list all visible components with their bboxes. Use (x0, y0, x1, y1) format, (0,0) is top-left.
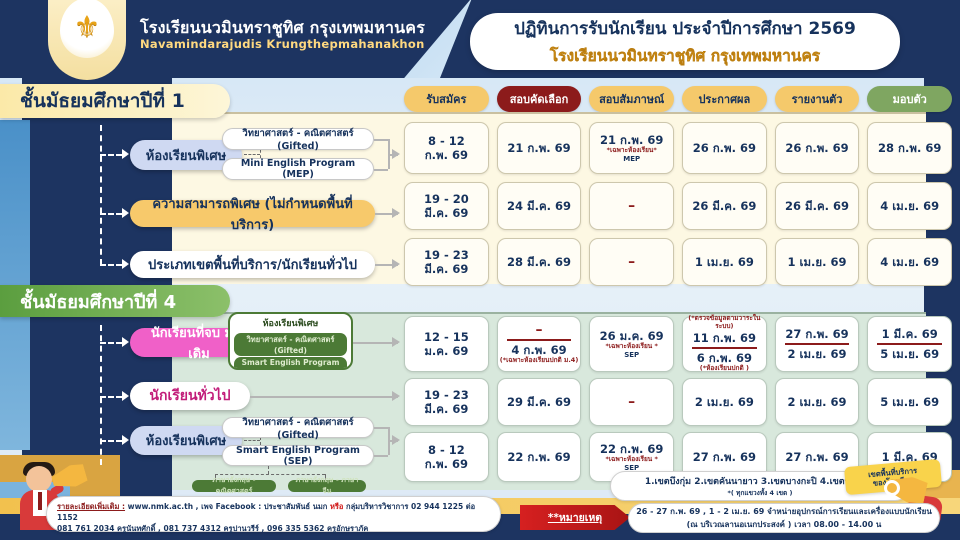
merge-m4-top (374, 427, 388, 429)
cell-date: 21 ก.พ. 69 (600, 133, 663, 147)
column-header-results[interactable]: ประกาศผล (682, 86, 767, 112)
infographic-root: ⚜ โรงเรียนนวมินทราชูทิศ กรุงเทพมหานคร Na… (0, 0, 960, 540)
cell-m1-special-exam[interactable]: 21 ก.พ. 69 (497, 122, 582, 174)
cell-m1-talent-results[interactable]: 26 มี.ค. 69 (682, 182, 767, 230)
contact-label: รายละเอียดเพิ่มเติม : (57, 502, 125, 511)
cell-date: 21 ก.พ. 69 (507, 141, 570, 155)
link-m4-general-arrow (392, 391, 400, 401)
cell-date-top: 1 มี.ค. 69 (882, 327, 938, 341)
cell-m1-special-interview[interactable]: 21 ก.พ. 69 *เฉพาะห้องเรียน* MEP (589, 122, 674, 174)
tree-spine-m1 (100, 125, 102, 265)
cell-m4-former-enroll[interactable]: 1 มี.ค. 69 5 เม.ย. 69 (867, 316, 952, 372)
section-band-m4: ชั้นมัธยมศึกษาปีที่ 4 (0, 285, 230, 317)
cell-date: 27 ก.พ. 69 (785, 450, 848, 464)
cell-m4-special-exam[interactable]: 22 ก.พ. 69 (497, 432, 582, 482)
cell-date: 28 มี.ค. 69 (507, 255, 571, 269)
cell-date: 2 เม.ย. 69 (695, 395, 754, 409)
note-flag-label: **หมายเหตุ (548, 509, 602, 526)
note-box: 26 - 27 ก.พ. 69 , 1 - 2 เม.ย. 69 จำหน่าย… (628, 503, 940, 533)
logo-plaque: ⚜ (48, 0, 126, 80)
greenbox-item-sep[interactable]: Smart English Program (SEP) (234, 357, 347, 370)
cell-note-small: (*เฉพาะห้องเรียนปกติ ม.4) (500, 357, 579, 365)
sub-program-m1-mep[interactable]: Mini English Program (MEP) (222, 158, 374, 180)
cell-m4-former-interview[interactable]: 26 ม.ค. 69 *เฉพาะห้องเรียน * SEP (589, 316, 674, 372)
cell-dash: – (536, 323, 543, 337)
cell-m4-former-apply[interactable]: 12 - 15 ม.ค. 69 (404, 316, 489, 372)
date-row-m1-talent: 19 - 20 มี.ค. 69 24 มี.ค. 69 – 26 มี.ค. … (404, 182, 952, 230)
cell-date: 4 เม.ย. 69 (880, 199, 939, 213)
cell-m1-zone-apply[interactable]: 19 - 23 มี.ค. 69 (404, 238, 489, 286)
cell-date: 26 มี.ค. 69 (692, 199, 756, 213)
section-band-m1-label: ชั้นมัธยมศึกษาปีที่ 1 (20, 86, 185, 116)
note-line-1: 26 - 27 ก.พ. 69 , 1 - 2 เม.ย. 69 จำหน่าย… (636, 505, 932, 518)
stage-column-headers: รับสมัคร สอบคัดเลือก สอบสัมภาษณ์ ประกาศผ… (404, 86, 952, 112)
contact-line-1: รายละเอียดเพิ่มเติม : www.nmk.ac.th , เพ… (57, 502, 490, 524)
link-m4-general (250, 396, 398, 398)
cell-m1-talent-report[interactable]: 26 มี.ค. 69 (775, 182, 860, 230)
cell-rule (785, 343, 849, 345)
merge-m1-bottom (374, 169, 388, 171)
cell-date: 4 เม.ย. 69 (880, 255, 939, 269)
merge-m1-arrow (392, 149, 400, 159)
cell-m1-special-report[interactable]: 26 ก.พ. 69 (775, 122, 860, 174)
cell-date: 26 ก.พ. 69 (785, 141, 848, 155)
sep-branch-vert (268, 466, 269, 474)
cell-date: 8 - 12 ก.พ. 69 (425, 443, 468, 472)
cell-m1-zone-exam[interactable]: 28 มี.ค. 69 (497, 238, 582, 286)
title-line-2: โรงเรียนนวมินทราชูทิศ กรุงเทพมหานคร (550, 43, 820, 68)
cell-m1-talent-enroll[interactable]: 4 เม.ย. 69 (867, 182, 952, 230)
cell-dash: – (628, 255, 635, 269)
royal-emblem-icon: ⚜ (60, 0, 114, 58)
sep-track-english-math[interactable]: ภาษาอังกฤษ - คณิตศาสตร์ (192, 480, 276, 492)
cell-m4-general-apply[interactable]: 19 - 23 มี.ค. 69 (404, 378, 489, 426)
column-header-interview[interactable]: สอบสัมภาษณ์ (589, 86, 674, 112)
category-chip-m4-general[interactable]: นักเรียนทั่วไป (130, 382, 250, 410)
contact-line-2: 081 761 2034 ครูนันทศักดิ์ , 081 737 431… (57, 524, 490, 535)
cell-m1-special-enroll[interactable]: 28 ก.พ. 69 (867, 122, 952, 174)
sub-program-m1-gifted[interactable]: วิทยาศาสตร์ - คณิตศาสตร์ (Gifted) (222, 128, 374, 150)
note-flag: **หมายเหตุ (520, 505, 630, 530)
cell-date: 1 เม.ย. 69 (788, 255, 847, 269)
tree-arrow-m1-1 (122, 149, 129, 159)
cell-note-red: *เฉพาะห้องเรียน * (605, 456, 657, 464)
cell-m4-general-report[interactable]: 2 เม.ย. 69 (775, 378, 860, 426)
cell-date: 29 มี.ค. 69 (507, 395, 571, 409)
cell-date: 26 มี.ค. 69 (785, 199, 849, 213)
tree-spur-m1-2 (100, 213, 122, 215)
tree-arrow-m1-3 (122, 259, 129, 269)
service-zone-subnote: *( ทุกแขวงทั้ง 4 เขต ) (728, 488, 793, 498)
tree-arrow-m4-1 (122, 337, 129, 347)
contact-or: หรือ (330, 502, 343, 511)
cell-date: 28 ก.พ. 69 (878, 141, 941, 155)
cell-note-red: *เฉพาะห้องเรียน * (605, 343, 657, 351)
cell-m1-zone-results[interactable]: 1 เม.ย. 69 (682, 238, 767, 286)
service-zone-list: 1.เขตบึงกุ่ม 2.เขตคันนายาว 3.เขตบางกะปิ … (645, 474, 875, 488)
merge-m1-top (374, 139, 388, 141)
cell-m1-special-apply[interactable]: 8 - 12 ก.พ. 69 (404, 122, 489, 174)
cell-date: 1 เม.ย. 69 (695, 255, 754, 269)
date-row-m4-former: 12 - 15 ม.ค. 69 – 4 ก.พ. 69 (*เฉพาะห้องเ… (404, 316, 952, 372)
column-header-report[interactable]: รายงานตัว (775, 86, 860, 112)
cell-m4-general-enroll[interactable]: 5 เม.ย. 69 (867, 378, 952, 426)
merge-m4-arrow (392, 435, 400, 445)
link-m1-zone-arrow (392, 259, 400, 269)
cell-date-top: 27 ก.พ. 69 (785, 327, 848, 341)
tree-spur-m1-3 (100, 264, 122, 266)
tree-spine-m4 (100, 325, 102, 465)
cell-date: 22 ก.พ. 69 (600, 442, 663, 456)
cell-m1-zone-interview[interactable]: – (589, 238, 674, 286)
title-line-1: ปฏิทินการรับนักเรียน ประจำปีการศึกษา 256… (514, 15, 856, 42)
tree-spur-m1-1 (100, 154, 122, 156)
cell-note-small: (*ห้องเรียนปกติ ) (700, 365, 749, 373)
category-chip-m1-zone[interactable]: ประเภทเขตพื้นที่บริการ/นักเรียนทั่วไป (130, 251, 375, 278)
cell-date-bottom: 5 เม.ย. 69 (880, 347, 939, 361)
cell-m4-general-exam[interactable]: 29 มี.ค. 69 (497, 378, 582, 426)
cell-rule (692, 347, 756, 349)
cell-date: 26 ก.พ. 69 (693, 141, 756, 155)
greenbox-item-gifted[interactable]: วิทยาศาสตร์ - คณิตศาสตร์ (Gifted) (234, 333, 347, 356)
column-header-exam[interactable]: สอบคัดเลือก (497, 86, 582, 112)
column-header-apply[interactable]: รับสมัคร (404, 86, 489, 112)
cell-m1-talent-apply[interactable]: 19 - 20 มี.ค. 69 (404, 182, 489, 230)
date-row-m1-special: 8 - 12 ก.พ. 69 21 ก.พ. 69 21 ก.พ. 69 *เฉ… (404, 122, 952, 174)
cell-m4-former-report[interactable]: 27 ก.พ. 69 2 เม.ย. 69 (775, 316, 860, 372)
tree-arrow-m4-3 (122, 435, 129, 445)
sep-track-english-chinese[interactable]: ภาษาอังกฤษ - ภาษาจีน (288, 480, 366, 492)
cell-note-program: SEP (624, 351, 639, 359)
note-line-2: (ณ บริเวณลานอเนกประสงค์ ) เวลา 08.00 - 1… (687, 518, 882, 531)
cell-note-red: *เฉพาะห้องเรียน* (607, 147, 657, 155)
cell-date: 8 - 12 ก.พ. 69 (425, 134, 468, 163)
category-chip-m1-talent[interactable]: ความสามารถพิเศษ (ไม่กำหนดพื้นที่บริการ) (130, 200, 375, 227)
date-row-m4-general: 19 - 23 มี.ค. 69 29 มี.ค. 69 – 2 เม.ย. 6… (404, 378, 952, 426)
tree-spur-m4-2 (100, 396, 122, 398)
cell-date: 26 ม.ค. 69 (600, 329, 664, 343)
sub-program-m4-gifted[interactable]: วิทยาศาสตร์ - คณิตศาสตร์ (Gifted) (222, 417, 374, 438)
date-row-m1-zone: 19 - 23 มี.ค. 69 28 มี.ค. 69 – 1 เม.ย. 6… (404, 238, 952, 286)
cell-dash: – (628, 395, 635, 409)
merge-m4-bottom (374, 455, 388, 457)
cell-m1-talent-exam[interactable]: 24 มี.ค. 69 (497, 182, 582, 230)
cell-rule (877, 343, 941, 345)
cell-date-bottom: 2 เม.ย. 69 (788, 347, 847, 361)
sub-program-m4-sep[interactable]: Smart English Program (SEP) (222, 445, 374, 466)
greenbox-title: ห้องเรียนพิเศษ (230, 314, 351, 332)
contact-line-1a: www.nmk.ac.th , เพจ Facebook : ประชาสัมพ… (125, 502, 330, 511)
contact-box: รายละเอียดเพิ่มเติม : www.nmk.ac.th , เพ… (46, 496, 501, 532)
cell-date-top: 11 ก.พ. 69 (693, 331, 756, 345)
cell-m1-zone-enroll[interactable]: 4 เม.ย. 69 (867, 238, 952, 286)
cell-m4-general-results[interactable]: 2 เม.ย. 69 (682, 378, 767, 426)
cell-m1-talent-interview[interactable]: – (589, 182, 674, 230)
cell-date: 19 - 23 มี.ค. 69 (424, 388, 469, 417)
section-band-m4-label: ชั้นมัธยมศึกษาปีที่ 4 (20, 287, 176, 316)
cell-rule (507, 339, 571, 341)
greenbox-m4-special: ห้องเรียนพิเศษ วิทยาศาสตร์ - คณิตศาสตร์ … (228, 312, 353, 370)
link-m1-special-stem (244, 154, 260, 155)
cell-note-program: MEP (623, 155, 640, 163)
tree-spur-m4-1 (100, 342, 122, 344)
tree-arrow-m4-2 (122, 391, 129, 401)
section-band-m1: ชั้นมัธยมศึกษาปีที่ 1 (0, 84, 230, 118)
cell-date: 24 มี.ค. 69 (507, 199, 571, 213)
cell-note-top: (*ตรวจข้อมูลตามวาระในระบบ) (683, 315, 766, 331)
tree-arrow-m1-2 (122, 208, 129, 218)
cell-dash: – (628, 199, 635, 213)
tree-spur-m4-3 (100, 440, 122, 442)
column-header-enroll[interactable]: มอบตัว (867, 86, 952, 112)
cell-m1-special-results[interactable]: 26 ก.พ. 69 (682, 122, 767, 174)
cell-m4-former-exam[interactable]: – 4 ก.พ. 69 (*เฉพาะห้องเรียนปกติ ม.4) (497, 316, 582, 372)
cell-m4-former-results[interactable]: (*ตรวจข้อมูลตามวาระในระบบ) 11 ก.พ. 69 6 … (682, 316, 767, 372)
cell-m4-special-apply[interactable]: 8 - 12 ก.พ. 69 (404, 432, 489, 482)
link-m4-former-arrow (392, 337, 400, 347)
cell-m4-general-interview[interactable]: – (589, 378, 674, 426)
main-title-card: ปฏิทินการรับนักเรียน ประจำปีการศึกษา 256… (470, 13, 900, 70)
link-m1-talent-arrow (392, 208, 400, 218)
cell-date: 19 - 23 มี.ค. 69 (424, 248, 469, 277)
cell-date: 27 ก.พ. 69 (693, 450, 756, 464)
cell-date: 2 เม.ย. 69 (788, 395, 847, 409)
cell-date: 5 เม.ย. 69 (880, 395, 939, 409)
cell-m1-zone-report[interactable]: 1 เม.ย. 69 (775, 238, 860, 286)
school-name-en: Navamindarajudis Krungthepmahanakhon (140, 37, 425, 51)
cell-date: 12 - 15 ม.ค. 69 (424, 330, 469, 359)
cell-date: 22 ก.พ. 69 (507, 450, 570, 464)
cell-date: 19 - 20 มี.ค. 69 (424, 192, 469, 221)
